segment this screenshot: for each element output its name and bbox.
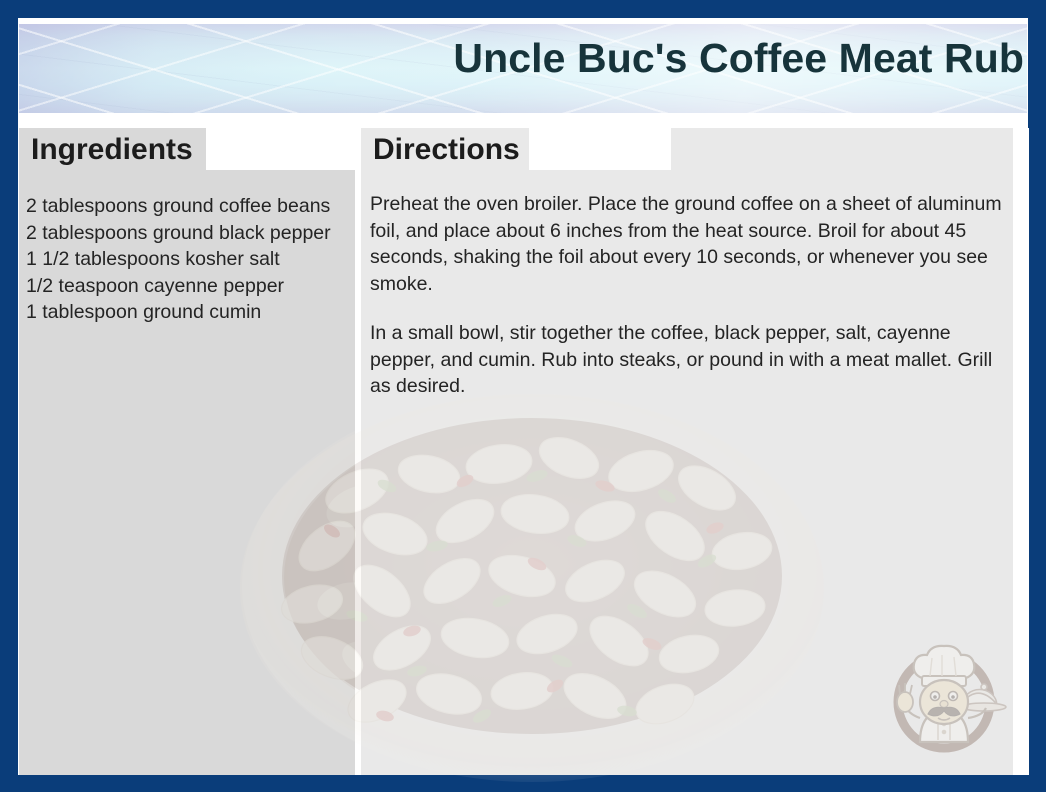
content-area: Ingredients Directions 2 tablespoons gro… — [19, 128, 1013, 775]
ingredients-tab-notch — [206, 128, 355, 170]
panel-right-edge — [1013, 128, 1029, 775]
directions-tab-notch — [529, 128, 671, 170]
ingredients-heading: Ingredients — [31, 135, 193, 165]
directions-paragraph: In a small bowl, stir together the coffe… — [370, 320, 1018, 400]
directions-paragraph: Preheat the oven broiler. Place the grou… — [370, 191, 1018, 297]
list-item: 1/2 teaspoon cayenne pepper — [26, 273, 348, 300]
page-title: Uncle Buc's Coffee Meat Rub — [453, 38, 1024, 79]
directions-body: Preheat the oven broiler. Place the grou… — [370, 191, 1018, 400]
list-item: 1 tablespoon ground cumin — [26, 299, 348, 326]
recipe-card: Uncle Buc's Coffee Meat Rub — [0, 0, 1046, 792]
list-item: 2 tablespoons ground coffee beans — [26, 193, 348, 220]
list-item: 1 1/2 tablespoons kosher salt — [26, 246, 348, 273]
ingredients-list: 2 tablespoons ground coffee beans 2 tabl… — [26, 193, 348, 326]
directions-heading: Directions — [373, 135, 520, 165]
list-item: 2 tablespoons ground black pepper — [26, 220, 348, 247]
